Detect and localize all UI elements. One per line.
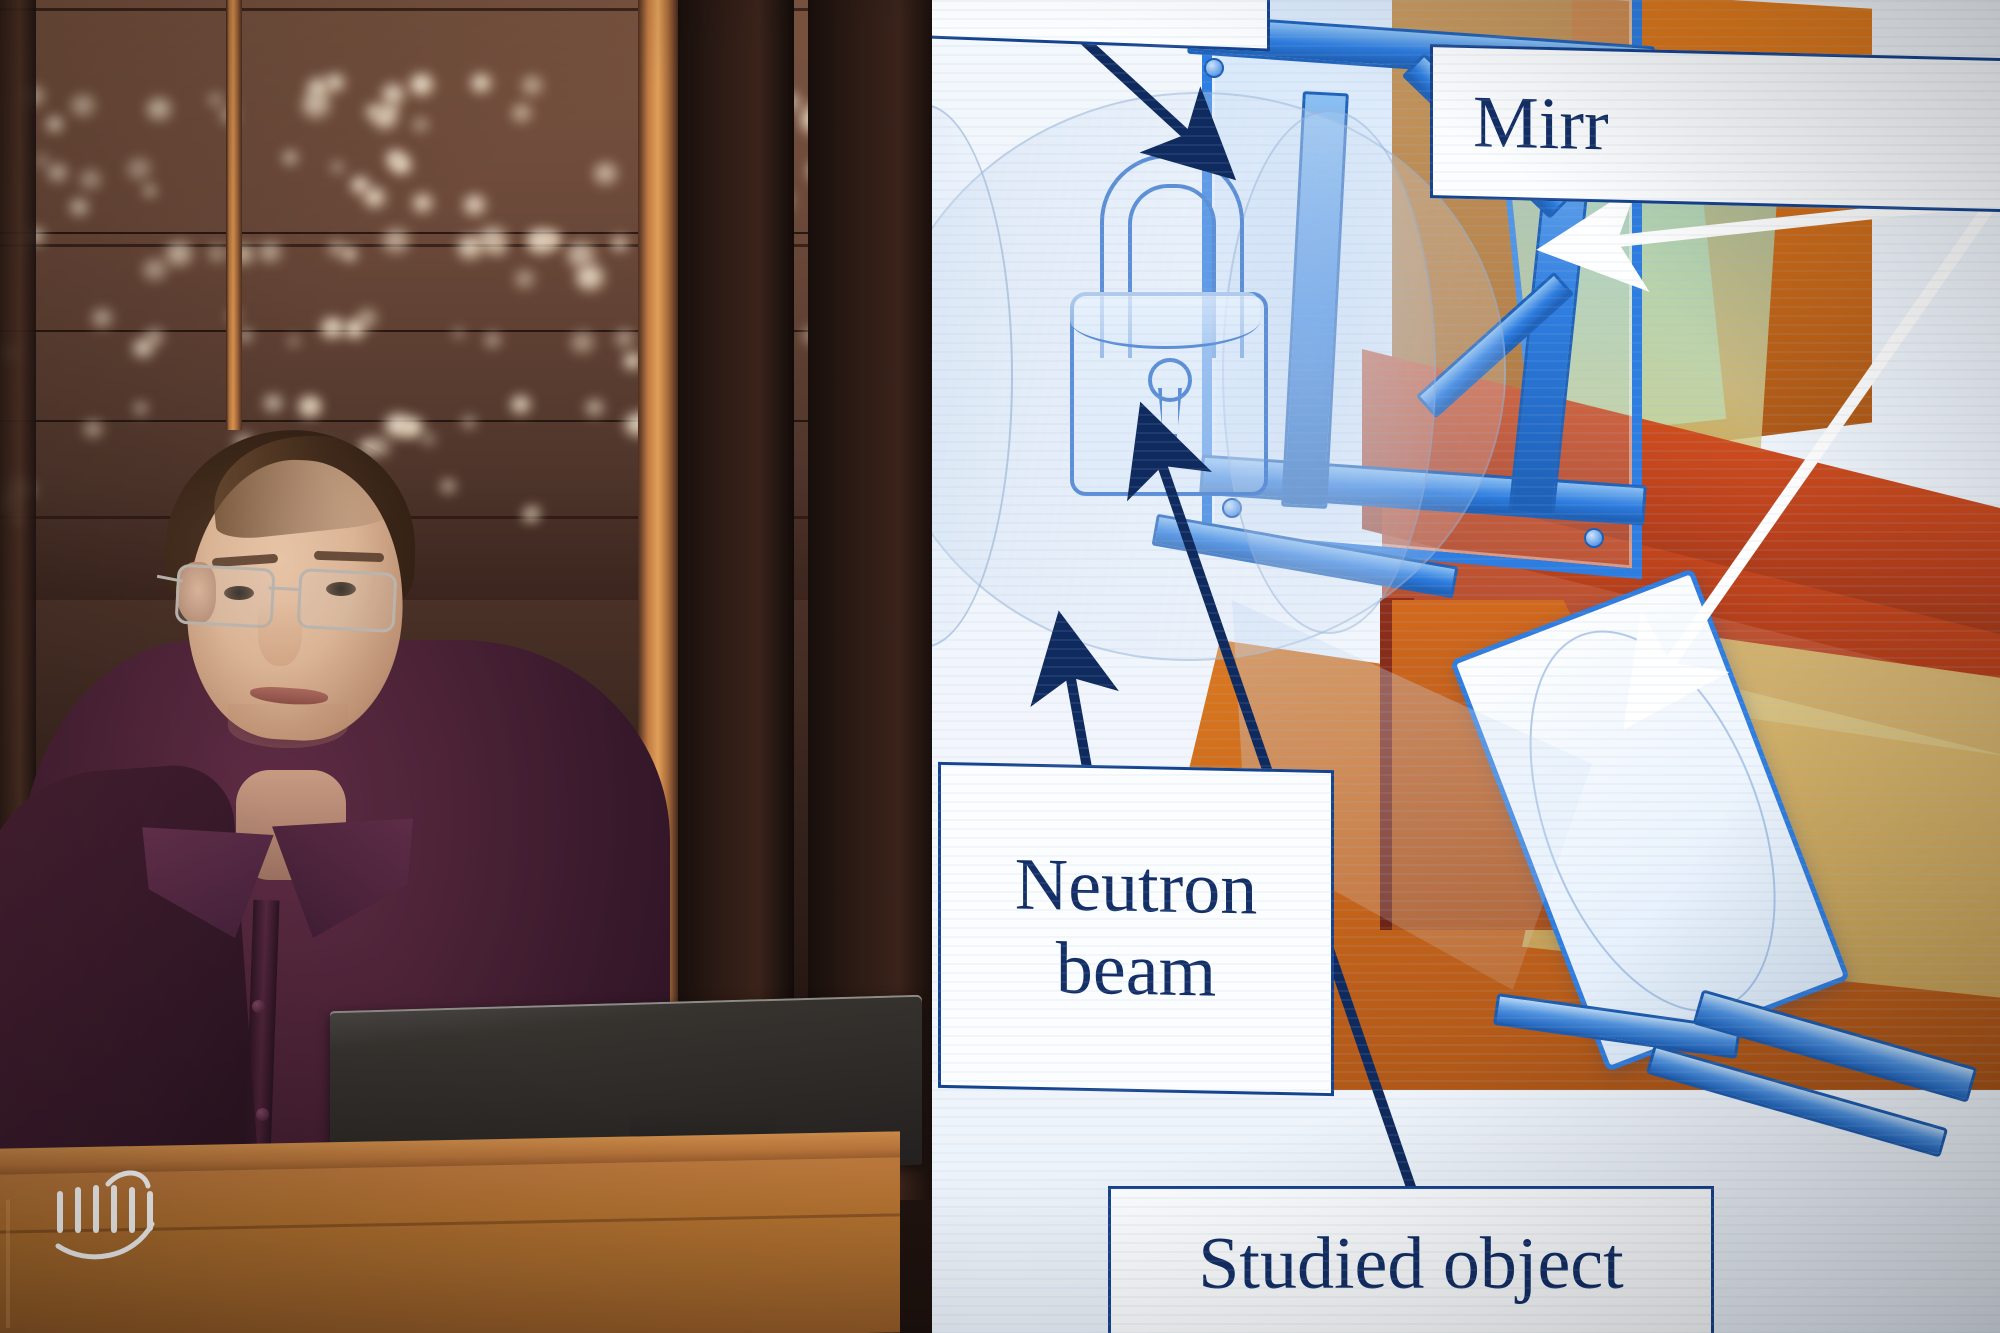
frame-bolt-icon <box>1204 58 1224 78</box>
presenter-chin <box>228 704 348 748</box>
bokeh-light <box>35 154 50 168</box>
screenshot-root: Mirr Neutron beam Studied object <box>0 0 2000 1333</box>
label-neutron-line2: beam <box>1056 927 1216 1013</box>
bokeh-light <box>127 158 152 181</box>
bokeh-light <box>594 163 617 185</box>
institution-logo-icon <box>48 1162 178 1267</box>
window-mullion-horizontal <box>0 8 940 11</box>
bokeh-light <box>567 242 596 269</box>
bokeh-light <box>71 95 96 118</box>
projection-screen: Mirr Neutron beam Studied object <box>932 0 2000 1333</box>
bokeh-light <box>522 76 544 96</box>
bokeh-light <box>166 242 193 267</box>
label-box-studied-object: Studied object <box>1108 1186 1714 1333</box>
bokeh-light <box>143 259 167 281</box>
podium <box>0 1140 900 1333</box>
shirt-button <box>256 1108 269 1121</box>
label-box-top <box>932 0 1270 52</box>
bokeh-light <box>302 92 331 119</box>
frame-bolt-icon <box>1584 528 1604 548</box>
label-mirrors-text: Mirr <box>1473 81 1609 167</box>
bokeh-light <box>527 231 549 252</box>
label-box-neutron-beam: Neutron beam <box>938 762 1334 1096</box>
bokeh-light <box>382 84 405 106</box>
light-string-wire <box>0 232 940 234</box>
bokeh-light <box>147 98 172 121</box>
label-box-mirrors: Mirr <box>1430 44 2000 214</box>
bokeh-light <box>410 74 433 96</box>
bokeh-light <box>283 151 298 165</box>
bokeh-light <box>458 236 483 259</box>
bokeh-light <box>413 194 433 212</box>
bokeh-light <box>328 241 346 257</box>
glasses-lens-right <box>296 568 397 633</box>
bokeh-light <box>383 229 410 254</box>
label-studied-text: Studied object <box>1198 1223 1623 1306</box>
padlock-icon <box>1052 140 1292 490</box>
bokeh-light <box>208 245 228 263</box>
bokeh-light <box>331 162 344 174</box>
bokeh-light <box>383 104 398 118</box>
bokeh-light <box>612 237 628 252</box>
shirt-button <box>252 1000 265 1013</box>
bokeh-light <box>326 74 346 92</box>
bokeh-light <box>512 104 533 123</box>
presenter-nose <box>258 600 302 666</box>
bokeh-light <box>259 242 281 262</box>
label-neutron-line1: Neutron <box>1015 844 1258 932</box>
bokeh-light <box>144 185 156 196</box>
padlock-body-top <box>1070 292 1260 349</box>
